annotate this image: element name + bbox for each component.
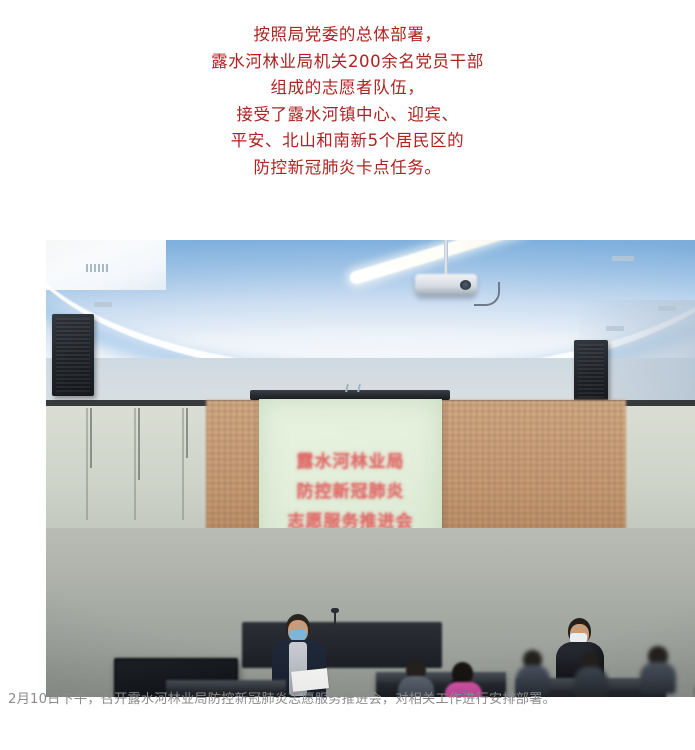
ceiling-vent-left	[94, 302, 112, 307]
photo-scene: 露水河林业局 防控新冠肺炎 志愿服务推进会 露水河林业局	[46, 240, 695, 697]
projector-lens	[460, 280, 471, 290]
header-line-2: 露水河林业局机关200余名党员干部	[0, 49, 695, 76]
speaker-grill-left	[56, 318, 90, 392]
desk-surface	[376, 672, 506, 683]
wall-cable-3	[186, 408, 188, 458]
meeting-photo: 露水河林业局 防控新冠肺炎 志愿服务推进会 露水河林业局	[46, 240, 695, 697]
photo-caption: 2月10日下午，召开露水河林业局防控新冠肺炎志愿服务推进会，对相关工作进行安排部…	[8, 688, 688, 711]
projection-screen-hook	[345, 384, 361, 392]
header-line-6: 防控新冠肺炎卡点任务。	[0, 155, 695, 182]
microphone-head	[331, 608, 339, 613]
audience-person-back-far-right	[640, 646, 676, 694]
wall-speaker-right	[574, 340, 608, 402]
header-line-3: 组成的志愿者队伍，	[0, 75, 695, 102]
wall-panel-line-3	[182, 408, 184, 520]
projection-screen-text: 露水河林业局 防控新冠肺炎 志愿服务推进会	[259, 447, 442, 537]
screen-line-2: 防控新冠肺炎	[259, 477, 442, 507]
article-header: 按照局党委的总体部署， 露水河林业局机关200余名党员干部 组成的志愿者队伍， …	[0, 0, 695, 181]
wall-speaker-left	[52, 314, 94, 396]
speaker-grill-right	[578, 344, 604, 398]
header-line-4: 接受了露水河镇中心、迎宾、	[0, 102, 695, 129]
header-line-5: 平安、北山和南新5个居民区的	[0, 128, 695, 155]
ceiling-vent-right-c	[612, 256, 634, 261]
projector-mount-rod	[444, 240, 448, 276]
wall-cable-1	[90, 408, 92, 468]
microphone-stem	[334, 612, 336, 626]
wall-panel-line-1	[86, 408, 88, 520]
screen-line-1: 露水河林业局	[259, 447, 442, 477]
ceiling-label	[86, 264, 108, 272]
header-line-1: 按照局党委的总体部署，	[0, 22, 695, 49]
wall-cable-2	[138, 408, 140, 480]
wall-panel-line-2	[134, 408, 136, 520]
